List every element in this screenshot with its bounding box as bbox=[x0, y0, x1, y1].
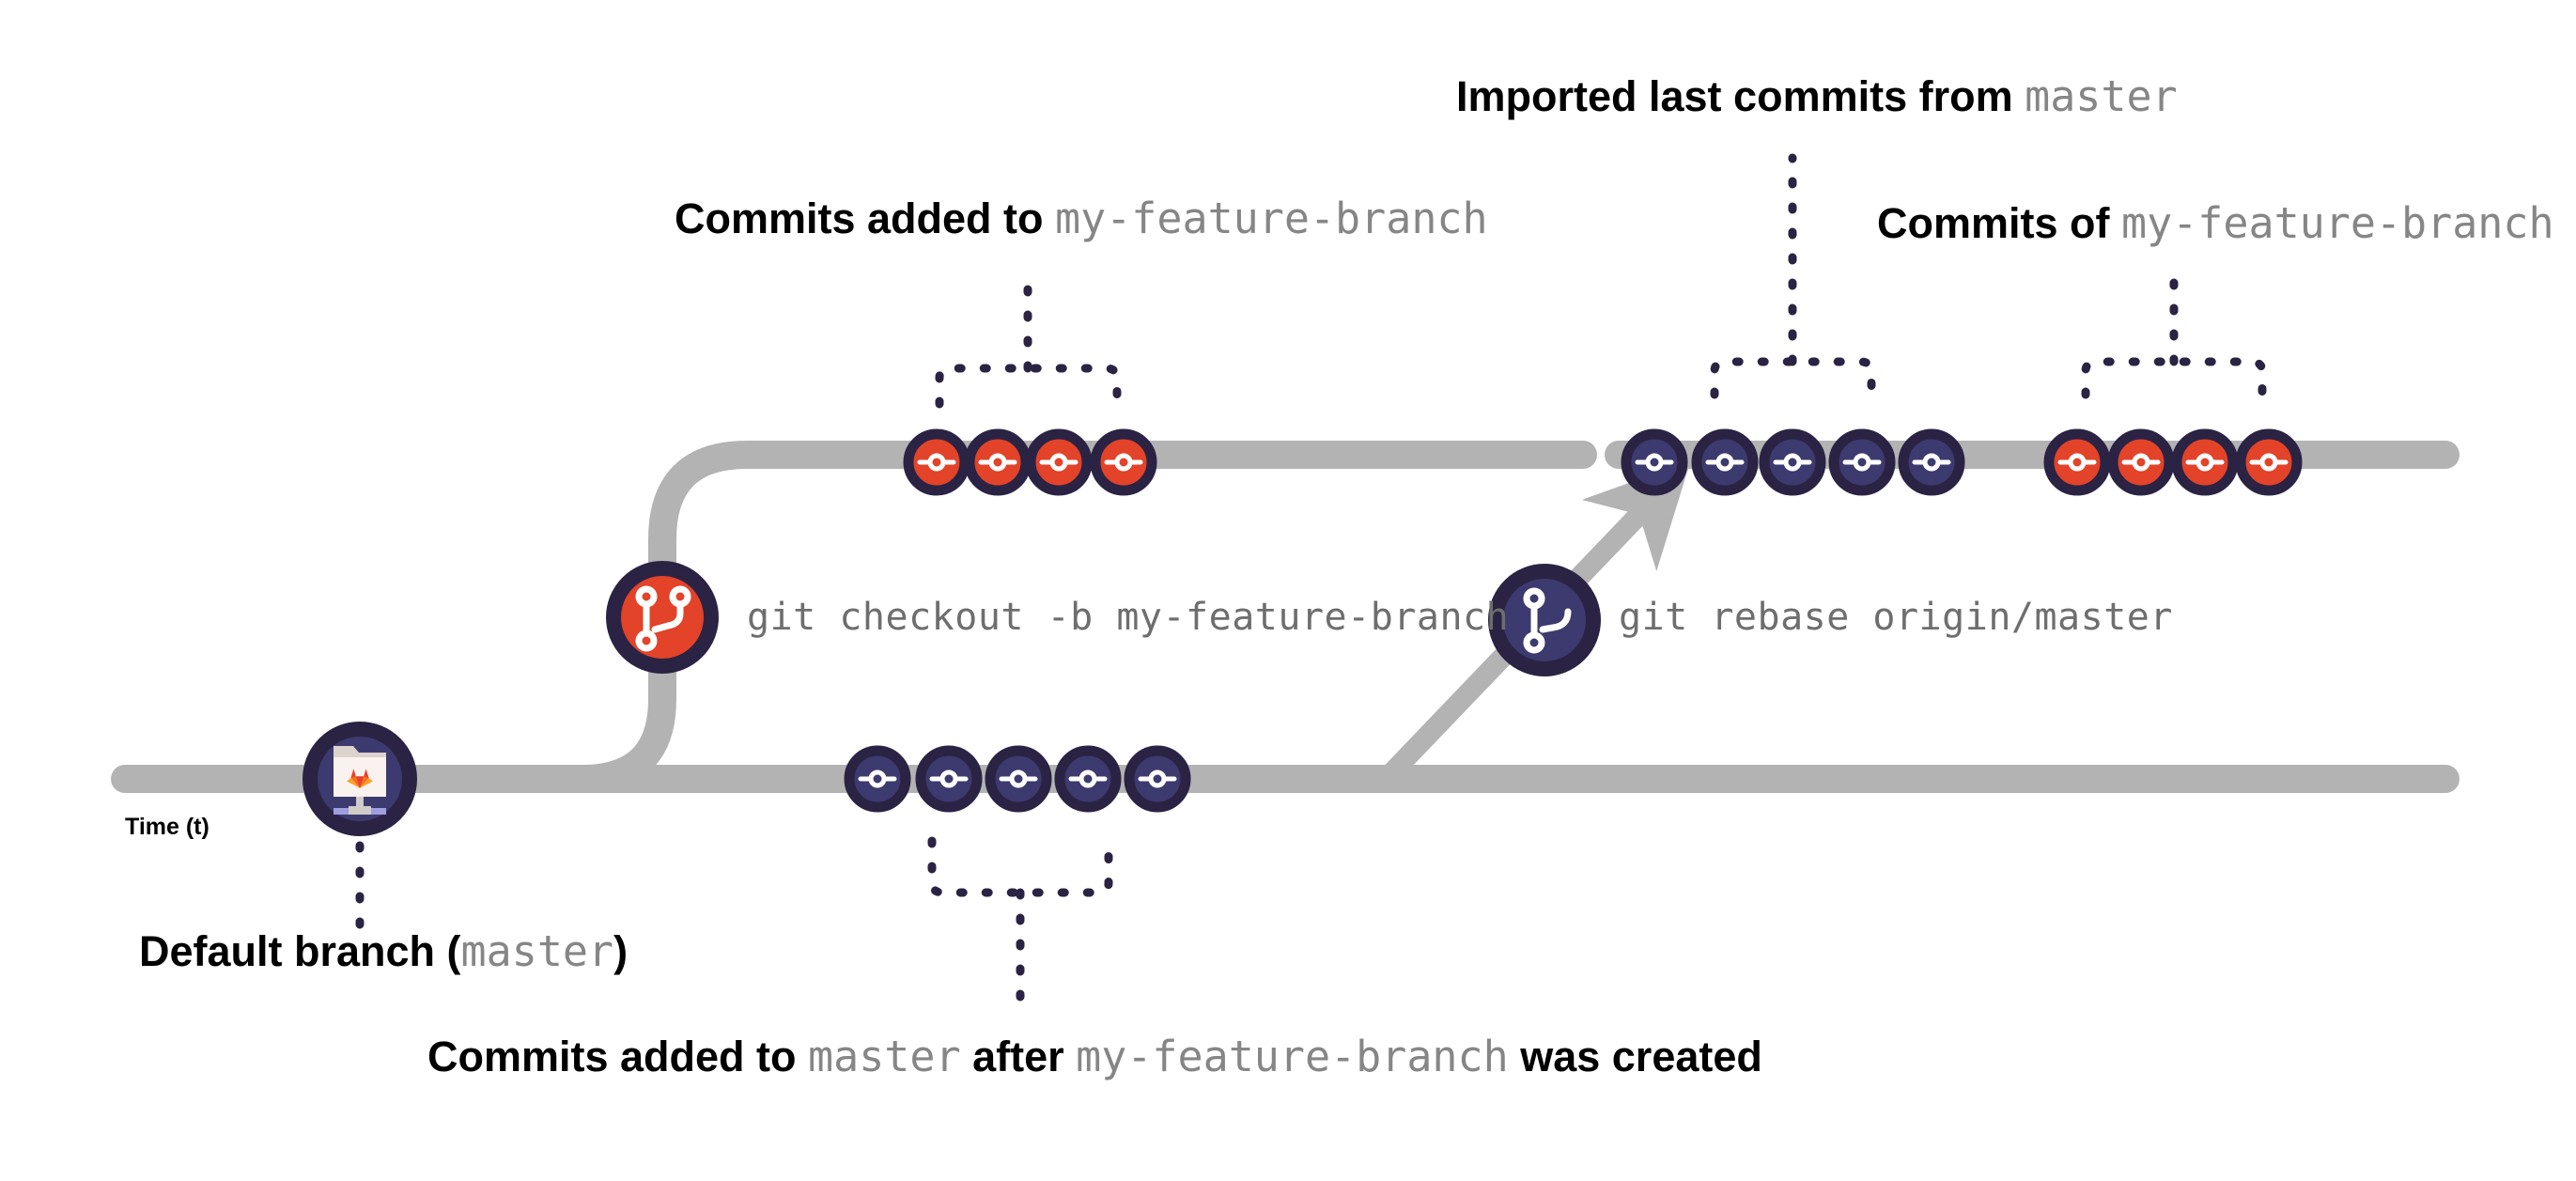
label-commits-of-mono: my-feature-branch bbox=[2121, 198, 2554, 248]
diagram-canvas bbox=[0, 0, 2576, 1181]
commit-node[interactable] bbox=[1129, 751, 1186, 807]
commit-node[interactable] bbox=[1764, 434, 1821, 490]
commit-node[interactable] bbox=[1903, 434, 1960, 490]
label-default-mono: master bbox=[461, 926, 614, 976]
bracket-commits-added-to-feature bbox=[939, 368, 1117, 404]
label-commits-of-feature: Commits of my-feature-branch bbox=[1877, 202, 2554, 244]
commit-node[interactable] bbox=[2241, 434, 2297, 490]
commit-node[interactable] bbox=[1834, 434, 1890, 490]
commit-node[interactable] bbox=[1060, 751, 1116, 807]
git-checkout-node[interactable] bbox=[613, 568, 711, 666]
label-added-feat-mono: my-feature-branch bbox=[1055, 194, 1488, 243]
label-added-feat-bold: Commits added to bbox=[675, 194, 1055, 242]
label-added-mast-mono-2: my-feature-branch bbox=[1076, 1032, 1509, 1081]
label-imported-bold: Imported last commits from bbox=[1456, 72, 2025, 120]
commit-node[interactable] bbox=[1095, 434, 1152, 490]
label-added-mast-bold-2: after bbox=[961, 1033, 1077, 1080]
commit-node[interactable] bbox=[921, 751, 977, 807]
commit-node[interactable] bbox=[2113, 434, 2169, 490]
commit-node[interactable] bbox=[849, 751, 906, 807]
commit-node[interactable] bbox=[2177, 434, 2233, 490]
commit-node[interactable] bbox=[908, 434, 965, 490]
label-imported-last-commits: Imported last commits from master bbox=[1456, 75, 2178, 117]
git-rebase-node[interactable] bbox=[1496, 571, 1593, 669]
master-commits-group bbox=[849, 751, 1186, 807]
label-added-mast-bold-3: was created bbox=[1509, 1033, 1762, 1080]
commit-node[interactable] bbox=[1031, 434, 1087, 490]
label-default-bold-1: Default branch ( bbox=[139, 927, 461, 975]
git-rebase-diagram: Imported last commits from master Commit… bbox=[0, 0, 2576, 1181]
commit-node[interactable] bbox=[990, 751, 1047, 807]
label-default-branch: Default branch (master) bbox=[139, 930, 628, 972]
label-commits-added-to-feature: Commits added to my-feature-branch bbox=[675, 197, 1488, 240]
time-axis-label: Time (t) bbox=[125, 816, 209, 839]
command-git-rebase: git rebase origin/master bbox=[1619, 598, 2173, 636]
label-default-bold-2: ) bbox=[613, 927, 628, 975]
commit-node[interactable] bbox=[1697, 434, 1753, 490]
bracket-commits-added-to-master bbox=[932, 841, 1109, 893]
label-added-mast-mono-1: master bbox=[808, 1032, 961, 1081]
command-git-checkout: git checkout -b my-feature-branch bbox=[747, 598, 1509, 636]
gitlab-project-node[interactable] bbox=[310, 729, 410, 829]
imported-commits-group bbox=[1626, 434, 1960, 490]
bracket-imported-commits bbox=[1715, 362, 1871, 395]
commit-node[interactable] bbox=[2049, 434, 2105, 490]
commit-node[interactable] bbox=[970, 434, 1026, 490]
label-imported-mono: master bbox=[2025, 71, 2178, 121]
label-commits-of-bold: Commits of bbox=[1877, 199, 2121, 247]
bracket-commits-of-feature bbox=[2086, 362, 2262, 395]
commit-node[interactable] bbox=[1626, 434, 1683, 490]
label-commits-added-to-master: Commits added to master after my-feature… bbox=[427, 1035, 1762, 1078]
label-added-mast-bold-1: Commits added to bbox=[427, 1033, 808, 1080]
master-timeline-line bbox=[111, 765, 2460, 793]
